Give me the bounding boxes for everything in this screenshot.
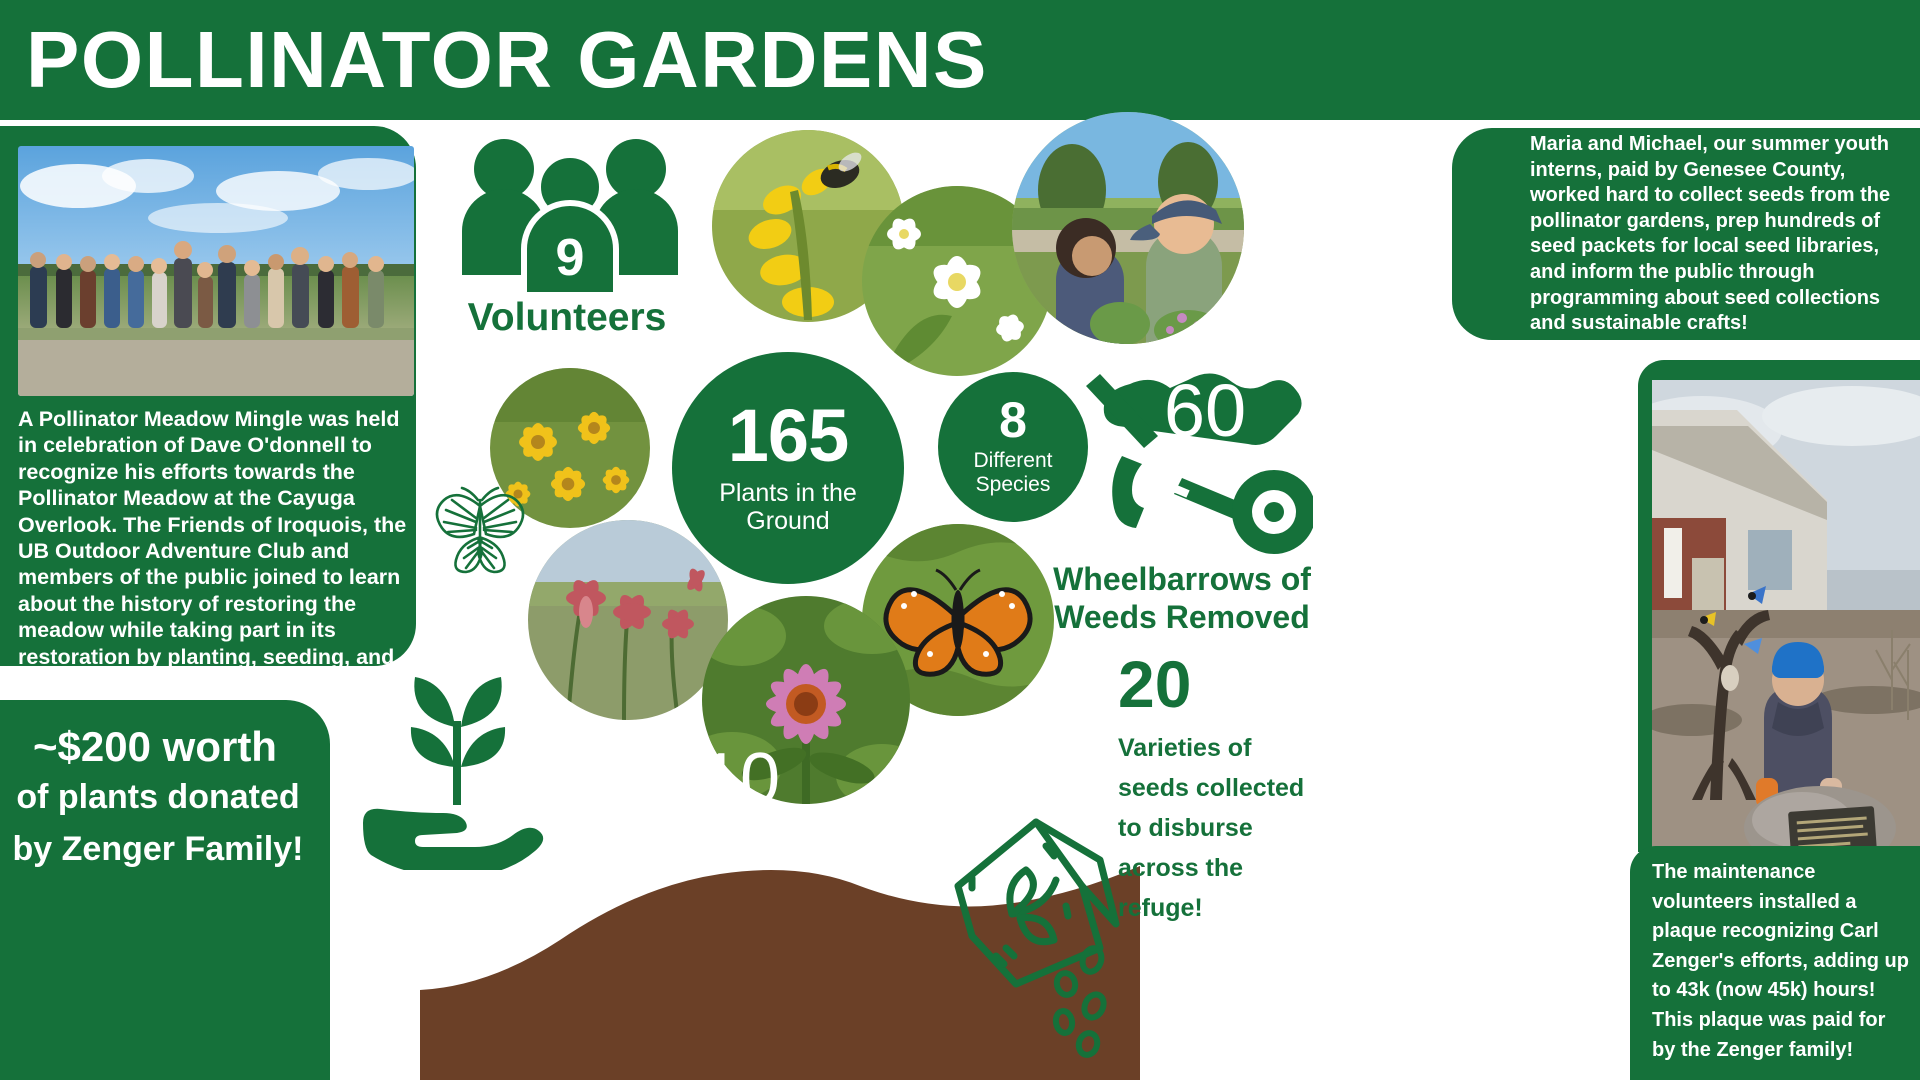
svg-text:Cubic Yards of Mulch: Cubic Yards of Mulch (575, 790, 873, 878)
wheelbarrow-label-line2: Weeds Removed (1054, 599, 1310, 635)
plants-stat-circle: 165 Plants in the Ground (672, 352, 904, 584)
plants-label-line1: Plants in the (719, 479, 857, 507)
plants-label-line2: Ground (746, 507, 829, 535)
wheelbarrow-label: Wheelbarrows of Weeds Removed (1022, 560, 1342, 636)
donation-desc-2: by Zenger Family! (0, 827, 316, 871)
group-photo (18, 146, 414, 396)
interns-text: Maria and Michael, our summer youth inte… (1530, 132, 1920, 337)
species-stat-circle: 8 Different Species (938, 372, 1088, 522)
donation-amount: ~$200 worth (0, 722, 310, 772)
mulch-label-text: Cubic Yards of Mulch (575, 790, 873, 878)
interns-in-garden-photo (1012, 112, 1244, 344)
infographic-canvas: POLLINATOR GARDENS (0, 0, 1920, 1080)
wheelbarrow-label-line1: Wheelbarrows of (1053, 561, 1311, 597)
page-title: POLLINATOR GARDENS (26, 16, 988, 104)
species-label-line2: Species (976, 473, 1051, 496)
plants-count: 165 (728, 401, 848, 471)
volunteers-label: Volunteers (436, 296, 698, 340)
plaque-photo (1652, 380, 1920, 850)
maintenance-text: The maintenance volunteers installed a p… (1652, 858, 1914, 1065)
butterfly-outline-icon (430, 486, 530, 578)
seed-varieties-count: 20 (1118, 648, 1248, 720)
volunteers-count: 9 (452, 228, 688, 288)
species-label-line1: Different (974, 449, 1053, 472)
left-story-text: A Pollinator Meadow Mingle was held in c… (18, 406, 408, 696)
plant-in-hand-icon (355, 655, 565, 870)
wheelbarrow-count: 60 (1100, 372, 1310, 450)
donation-desc-1: of plants donated (0, 775, 316, 819)
group-photo-image (18, 146, 414, 396)
species-count: 8 (999, 397, 1027, 443)
mulch-label-arc: Cubic Yards of Mulch (575, 790, 875, 900)
seed-varieties-label: Varieties of seeds collected to disburse… (1118, 728, 1328, 928)
